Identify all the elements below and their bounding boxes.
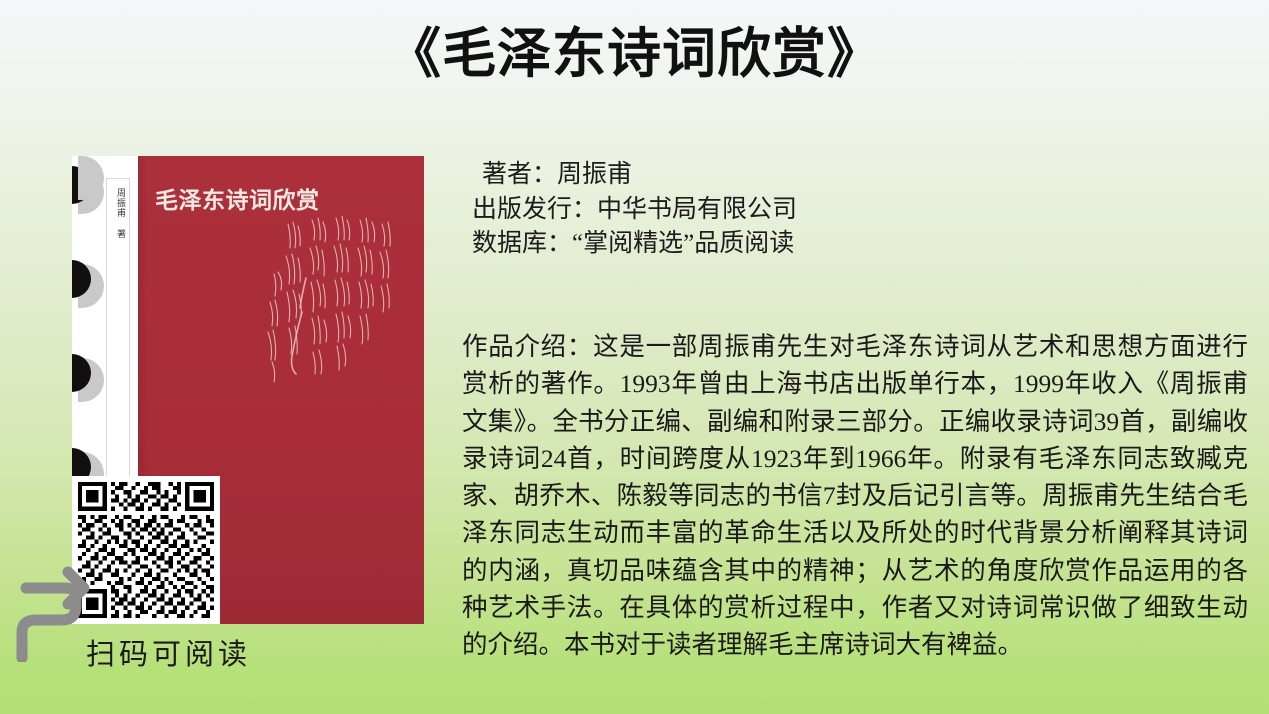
qr-code-panel[interactable] — [72, 476, 220, 624]
scan-to-read-caption: 扫码可阅读 — [86, 631, 251, 673]
book-description: 作品介绍：这是一部周振甫先生对毛泽东诗词从艺术和思想方面进行赏析的著作。1993… — [462, 328, 1248, 664]
slide-canvas: 《毛泽东诗词欣赏》 周振甫 著 中华书局 毛泽东诗词欣赏 — [0, 0, 1269, 714]
spine-author-text: 周振甫 著 — [110, 188, 126, 239]
book-cover-title: 毛泽东诗词欣赏 — [155, 181, 320, 215]
calligraphy-artwork-icon — [266, 216, 400, 388]
meta-database: 数据库：“掌阅精选”品质阅读 — [472, 227, 1172, 262]
page-title: 《毛泽东诗词欣赏》 — [0, 22, 1269, 87]
curved-arrow-icon — [10, 566, 92, 662]
meta-author: 著者：周振甫 — [472, 158, 1172, 193]
qr-code-icon[interactable] — [78, 482, 214, 618]
book-metadata: 著者：周振甫 出版发行：中华书局有限公司 数据库：“掌阅精选”品质阅读 — [472, 158, 1172, 262]
meta-publisher: 出版发行：中华书局有限公司 — [472, 193, 1172, 228]
